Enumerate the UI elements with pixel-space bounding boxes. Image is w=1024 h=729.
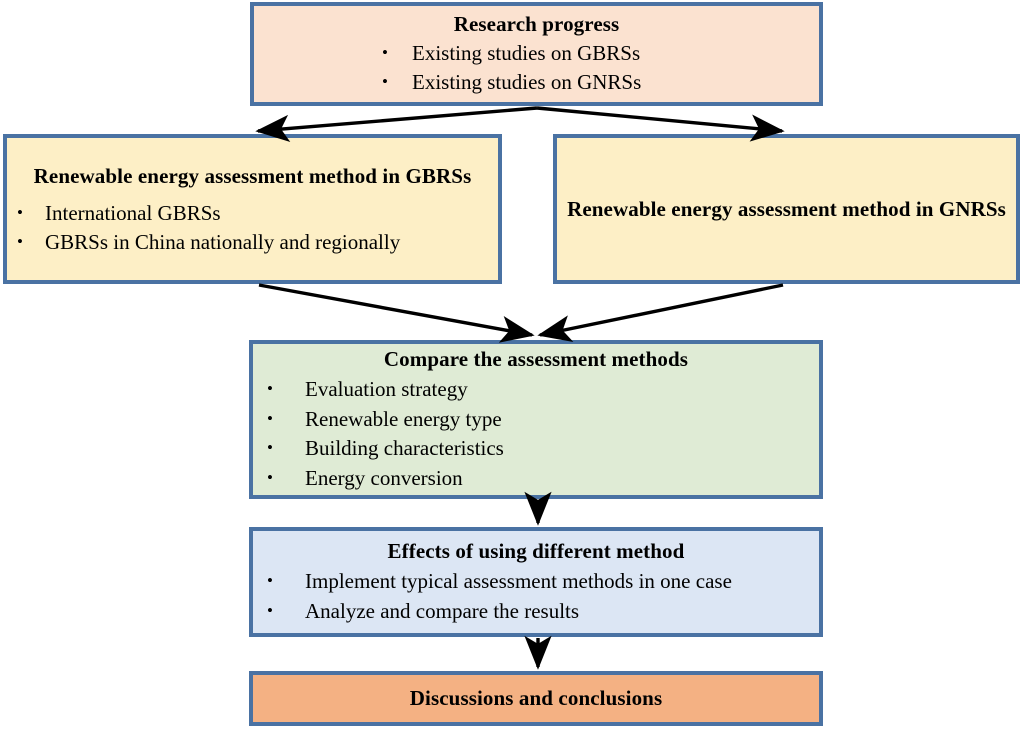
node-title: Compare the assessment methods [253, 347, 819, 372]
list-item: • Analyze and compare the results [267, 597, 819, 627]
bullet-list: • Evaluation strategy • Renewable energy… [253, 375, 819, 494]
arrow-gnrs-to-compare [540, 285, 783, 335]
list-item: • Existing studies on GNRSs [382, 68, 819, 98]
node-title: Renewable energy assessment method in GN… [557, 197, 1016, 222]
arrow-research-to-gbrs [258, 108, 537, 131]
list-item: • Evaluation strategy [267, 375, 819, 405]
bullet-icon: • [267, 410, 305, 427]
node-assessment-method-gbrs[interactable]: Renewable energy assessment method in GB… [3, 134, 502, 284]
list-item: • International GBRSs [17, 199, 498, 229]
bullet-icon: • [17, 204, 45, 221]
bullet-icon: • [267, 469, 305, 486]
node-title: Renewable energy assessment method in GB… [7, 164, 498, 189]
node-compare-methods[interactable]: Compare the assessment methods • Evaluat… [249, 340, 823, 499]
bullet-icon: • [267, 439, 305, 456]
list-item-label: GBRSs in China nationally and regionally [45, 228, 400, 258]
list-item: • GBRSs in China nationally and regional… [17, 228, 498, 258]
list-item: • Building characteristics [267, 434, 819, 464]
list-item: • Energy conversion [267, 464, 819, 494]
list-item-label: Energy conversion [305, 464, 463, 494]
list-item: • Renewable energy type [267, 405, 819, 435]
bullet-list: • Implement typical assessment methods i… [253, 567, 819, 627]
node-title: Research progress [254, 12, 819, 37]
node-title: Effects of using different method [253, 539, 819, 564]
flowchart-canvas: Research progress • Existing studies on … [0, 0, 1024, 729]
bullet-icon: • [17, 233, 45, 250]
bullet-icon: • [267, 602, 305, 619]
list-item: • Implement typical assessment methods i… [267, 567, 819, 597]
list-item-label: Evaluation strategy [305, 375, 468, 405]
node-title: Discussions and conclusions [253, 686, 819, 711]
list-item-label: International GBRSs [45, 199, 221, 229]
node-effects-of-method[interactable]: Effects of using different method • Impl… [249, 527, 823, 637]
bullet-list: • Existing studies on GBRSs • Existing s… [254, 39, 819, 99]
list-item-label: Existing studies on GNRSs [412, 68, 641, 98]
list-item-label: Analyze and compare the results [305, 597, 579, 627]
bullet-icon: • [382, 73, 412, 90]
arrow-gbrs-to-compare [259, 285, 532, 335]
arrow-research-to-gnrs [537, 108, 782, 131]
bullet-icon: • [267, 380, 305, 397]
list-item-label: Implement typical assessment methods in … [305, 567, 732, 597]
list-item-label: Existing studies on GBRSs [412, 39, 640, 69]
bullet-icon: • [267, 572, 305, 589]
list-item: • Existing studies on GBRSs [382, 39, 819, 69]
list-item-label: Renewable energy type [305, 405, 502, 435]
bullet-list: • International GBRSs • GBRSs in China n… [7, 199, 498, 259]
list-item-label: Building characteristics [305, 434, 504, 464]
bullet-icon: • [382, 44, 412, 61]
node-assessment-method-gnrs[interactable]: Renewable energy assessment method in GN… [553, 134, 1020, 284]
node-discussions-conclusions[interactable]: Discussions and conclusions [249, 671, 823, 726]
node-research-progress[interactable]: Research progress • Existing studies on … [250, 2, 823, 106]
